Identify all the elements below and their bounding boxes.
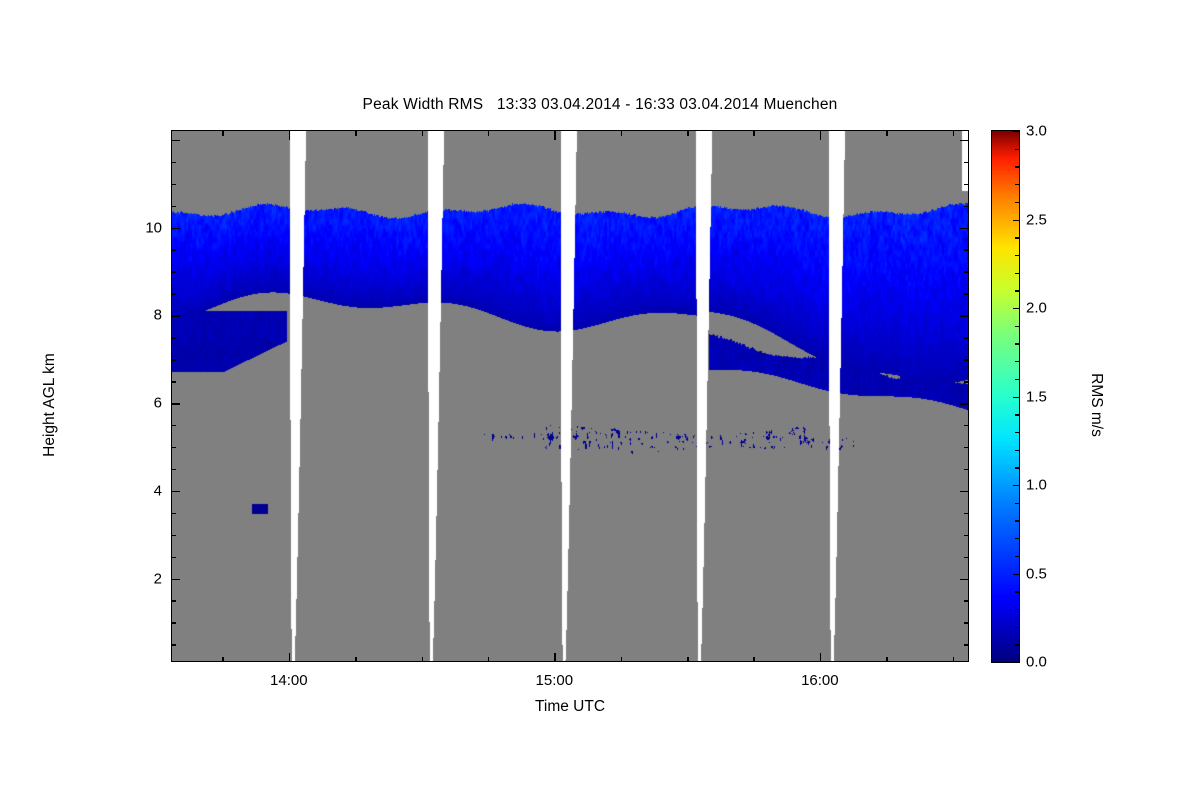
y-tick bbox=[171, 228, 180, 230]
x-tick-top bbox=[953, 131, 955, 136]
y-tick-right bbox=[964, 425, 969, 427]
plot-title: Peak Width RMS 13:33 03.04.2014 - 16:33 … bbox=[0, 96, 1200, 114]
colorbar-tick bbox=[1015, 432, 1019, 433]
colorbar-tick bbox=[1015, 149, 1019, 150]
y-tick bbox=[171, 162, 176, 164]
colorbar-tick bbox=[1015, 184, 1019, 185]
y-tick bbox=[171, 469, 176, 471]
colorbar-tick bbox=[1015, 609, 1019, 610]
y-tick-right bbox=[964, 535, 969, 537]
colorbar-tick bbox=[1013, 574, 1019, 575]
x-tick bbox=[820, 653, 822, 662]
colorbar-tick bbox=[1013, 308, 1019, 309]
x-tick-top bbox=[621, 131, 623, 136]
colorbar-tick bbox=[1015, 202, 1019, 203]
colorbar-tick bbox=[1015, 379, 1019, 380]
colorbar-tick bbox=[1015, 343, 1019, 344]
x-tick bbox=[886, 657, 888, 662]
colorbar-tick bbox=[1015, 467, 1019, 468]
y-tick-right bbox=[960, 228, 969, 230]
y-tick bbox=[171, 140, 180, 142]
y-tick-right bbox=[964, 644, 969, 646]
colorbar-tick-label: 1.0 bbox=[1026, 477, 1047, 494]
x-tick-top bbox=[222, 131, 224, 136]
y-tick-right bbox=[964, 293, 969, 295]
x-tick-top bbox=[554, 131, 556, 140]
colorbar-tick-label: 2.0 bbox=[1026, 300, 1047, 317]
y-tick-right bbox=[964, 271, 969, 273]
colorbar-tick bbox=[1015, 503, 1019, 504]
x-tick-top bbox=[289, 131, 291, 140]
y-tick bbox=[171, 293, 176, 295]
y-tick bbox=[171, 403, 180, 405]
y-tick-right bbox=[964, 600, 969, 602]
y-tick bbox=[171, 600, 176, 602]
y-tick bbox=[171, 447, 176, 449]
colorbar-tick bbox=[1015, 166, 1019, 167]
colorbar-tick bbox=[1013, 220, 1019, 221]
colorbar-tick bbox=[1015, 520, 1019, 521]
colorbar-tick-label: 3.0 bbox=[1026, 123, 1047, 140]
x-tick bbox=[753, 657, 755, 662]
y-tick-right bbox=[964, 249, 969, 251]
y-tick-right bbox=[960, 140, 969, 142]
y-tick bbox=[171, 579, 180, 581]
x-tick bbox=[554, 653, 556, 662]
colorbar-tick-label: 2.5 bbox=[1026, 211, 1047, 228]
x-tick-top bbox=[886, 131, 888, 136]
x-axis-title: Time UTC bbox=[172, 698, 968, 716]
colorbar-tick-label: 0.0 bbox=[1026, 654, 1047, 671]
y-tick-label: 6 bbox=[154, 395, 162, 412]
x-tick-top bbox=[753, 131, 755, 136]
y-tick bbox=[171, 315, 180, 317]
colorbar-tick bbox=[1013, 662, 1019, 663]
x-tick-top bbox=[355, 131, 357, 136]
colorbar-title: RMS m/s bbox=[1087, 295, 1105, 515]
y-tick-label: 2 bbox=[154, 570, 162, 587]
y-tick bbox=[171, 491, 180, 493]
y-tick bbox=[171, 425, 176, 427]
y-tick-right bbox=[964, 469, 969, 471]
colorbar-tick bbox=[1013, 131, 1019, 132]
colorbar-tick bbox=[1015, 290, 1019, 291]
colorbar-tick bbox=[1015, 644, 1019, 645]
y-tick-right bbox=[960, 579, 969, 581]
y-tick bbox=[171, 535, 176, 537]
y-tick bbox=[171, 381, 176, 383]
heatmap-plot-area bbox=[172, 131, 968, 661]
x-tick bbox=[422, 657, 424, 662]
heatmap-image bbox=[172, 131, 968, 661]
colorbar-tick-label: 0.5 bbox=[1026, 565, 1047, 582]
x-tick bbox=[289, 653, 291, 662]
y-tick-right bbox=[964, 337, 969, 339]
colorbar-tick bbox=[1015, 627, 1019, 628]
y-tick bbox=[171, 557, 176, 559]
colorbar-tick bbox=[1013, 397, 1019, 398]
x-tick-top bbox=[687, 131, 689, 136]
y-tick-right bbox=[964, 513, 969, 515]
x-tick-label: 14:00 bbox=[270, 672, 308, 689]
x-tick-top bbox=[488, 131, 490, 136]
y-tick-right bbox=[960, 403, 969, 405]
colorbar-tick bbox=[1013, 485, 1019, 486]
colorbar-tick bbox=[1015, 556, 1019, 557]
y-tick-right bbox=[960, 315, 969, 317]
figure-canvas: Peak Width RMS 13:33 03.04.2014 - 16:33 … bbox=[0, 0, 1200, 800]
x-tick-top bbox=[422, 131, 424, 136]
y-tick-right bbox=[964, 359, 969, 361]
y-tick bbox=[171, 513, 176, 515]
y-tick-right bbox=[960, 491, 969, 493]
colorbar-tick bbox=[1015, 538, 1019, 539]
y-tick bbox=[171, 359, 176, 361]
x-tick-label: 16:00 bbox=[801, 672, 839, 689]
y-tick bbox=[171, 271, 176, 273]
colorbar-tick bbox=[1015, 237, 1019, 238]
y-tick bbox=[171, 644, 176, 646]
y-tick bbox=[171, 206, 176, 208]
y-tick-label: 8 bbox=[154, 307, 162, 324]
y-tick-right bbox=[964, 447, 969, 449]
x-tick bbox=[621, 657, 623, 662]
colorbar-tick bbox=[1015, 255, 1019, 256]
x-tick-top bbox=[820, 131, 822, 140]
y-tick-label: 10 bbox=[145, 219, 162, 236]
y-tick bbox=[171, 337, 176, 339]
colorbar-tick bbox=[1015, 361, 1019, 362]
x-tick bbox=[488, 657, 490, 662]
y-tick-right bbox=[964, 557, 969, 559]
x-tick-label: 15:00 bbox=[536, 672, 574, 689]
y-tick bbox=[171, 622, 176, 624]
y-tick-right bbox=[964, 622, 969, 624]
x-tick bbox=[355, 657, 357, 662]
y-tick bbox=[171, 249, 176, 251]
colorbar-tick bbox=[1015, 450, 1019, 451]
y-tick-right bbox=[964, 162, 969, 164]
y-tick-right bbox=[964, 381, 969, 383]
y-tick-right bbox=[964, 206, 969, 208]
y-tick-label: 4 bbox=[154, 482, 162, 499]
x-tick bbox=[953, 657, 955, 662]
colorbar-tick bbox=[1015, 591, 1019, 592]
colorbar-tick bbox=[1015, 326, 1019, 327]
x-tick bbox=[222, 657, 224, 662]
y-tick-right bbox=[964, 184, 969, 186]
x-tick bbox=[687, 657, 689, 662]
colorbar-tick bbox=[1015, 414, 1019, 415]
y-tick bbox=[171, 184, 176, 186]
colorbar-tick-label: 1.5 bbox=[1026, 388, 1047, 405]
y-axis-title: Height AGL km bbox=[41, 295, 59, 515]
colorbar-tick bbox=[1015, 273, 1019, 274]
